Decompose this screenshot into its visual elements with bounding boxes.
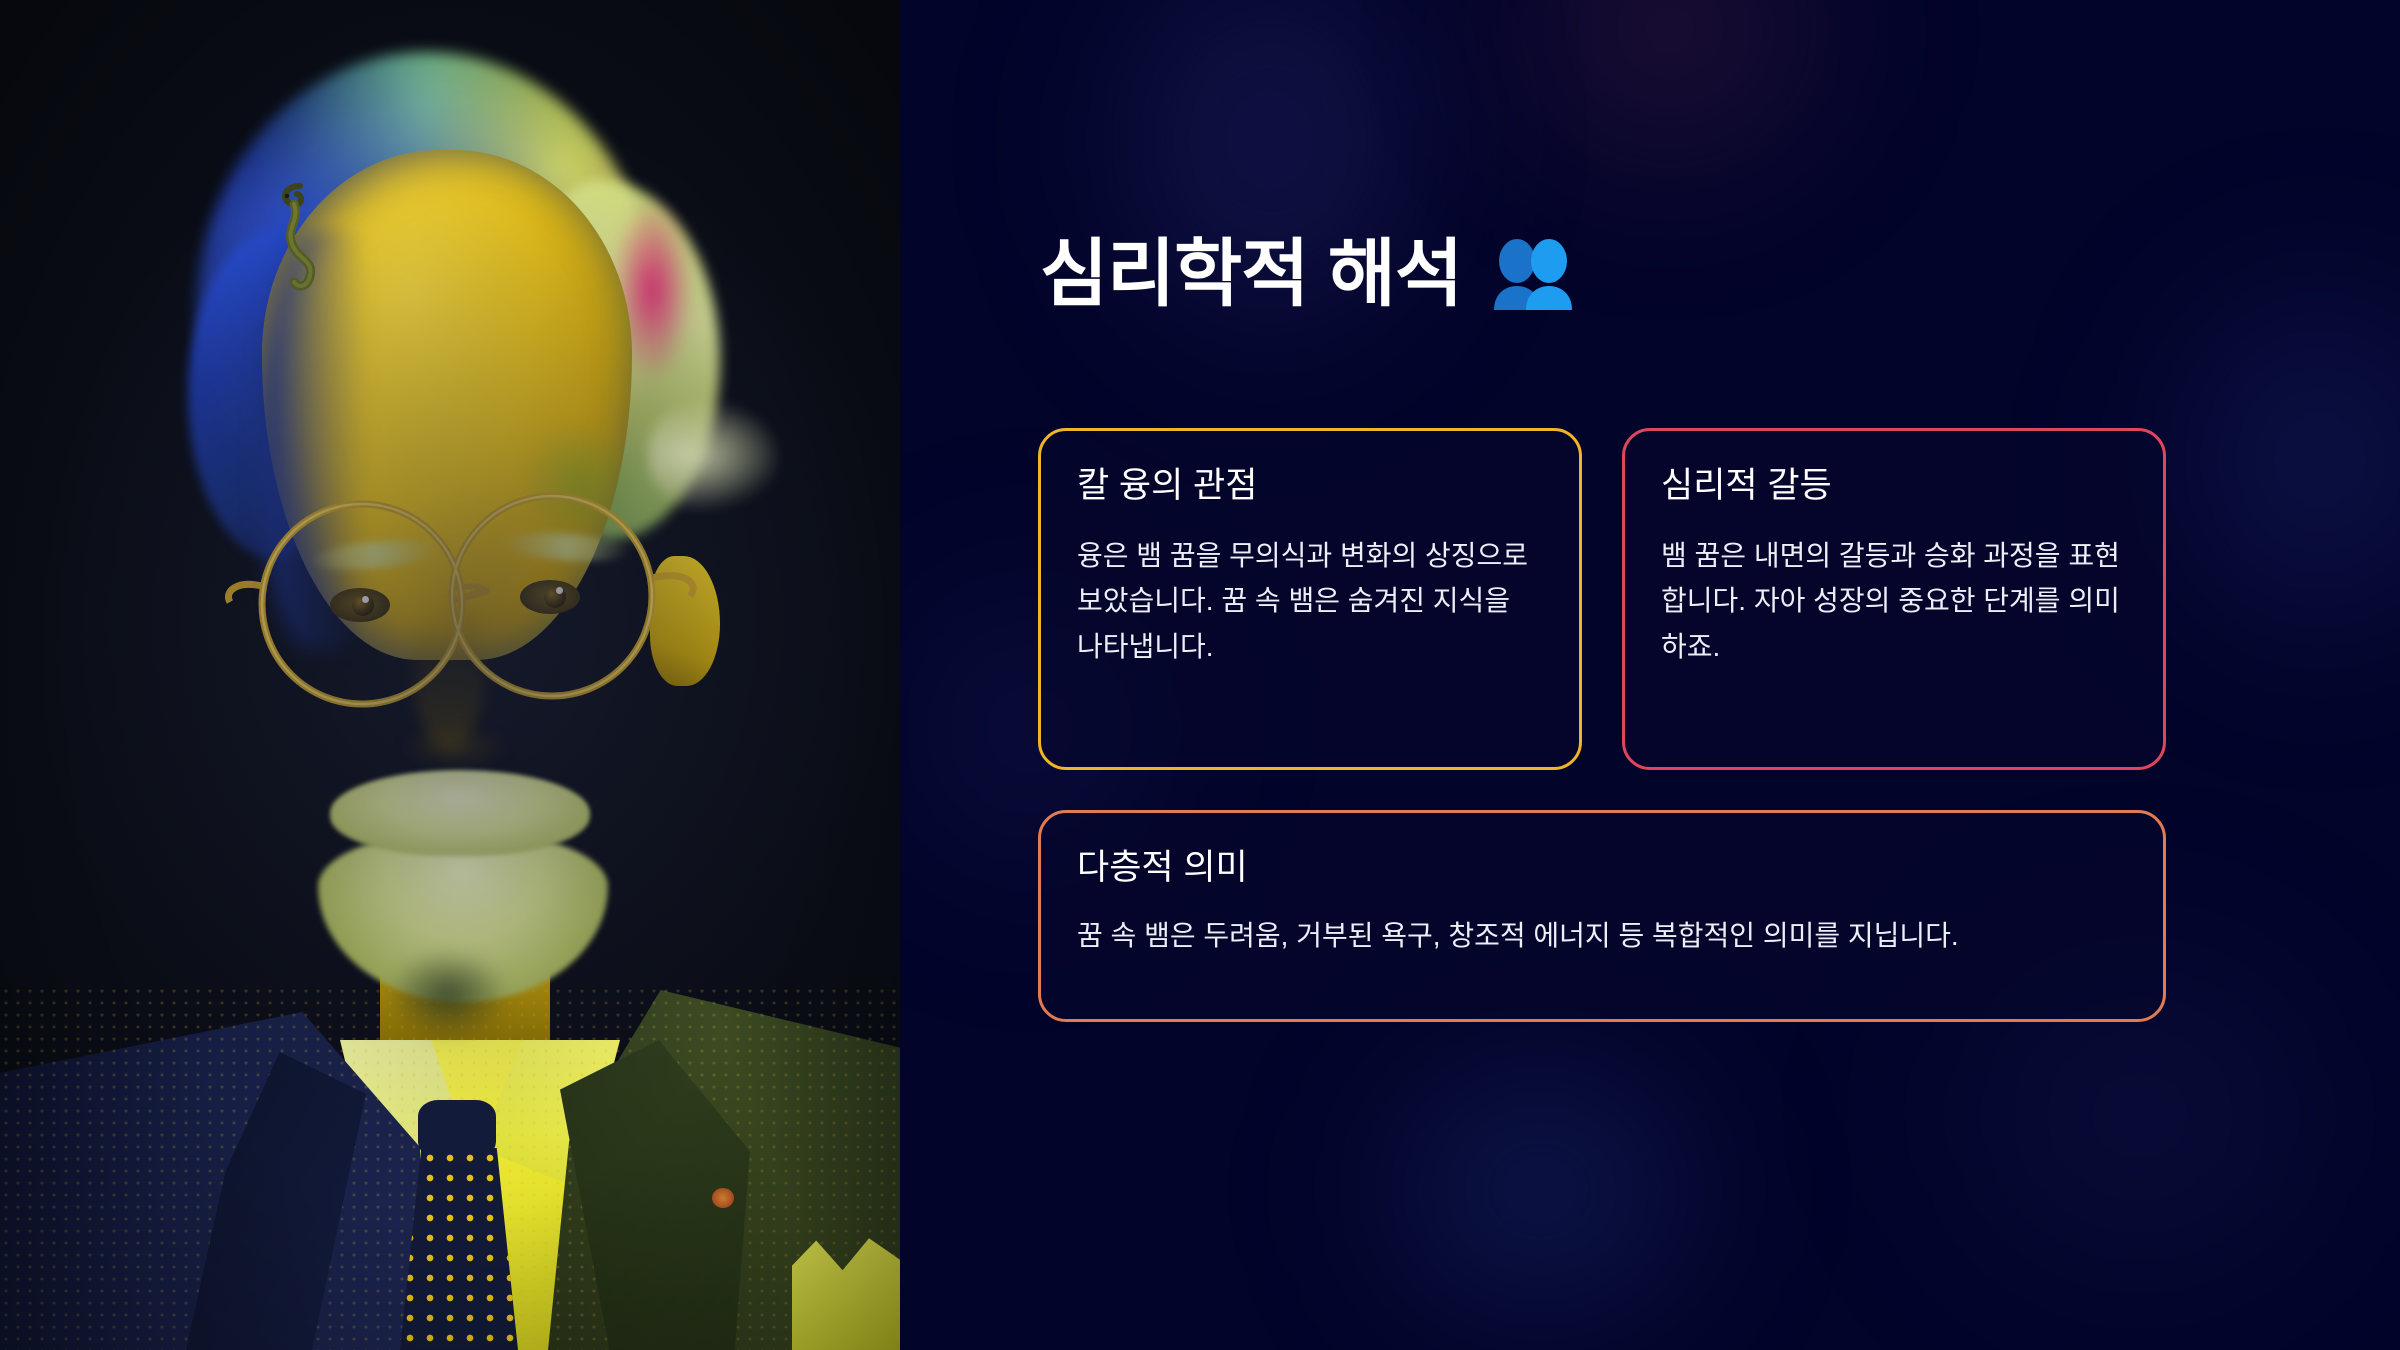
- card-psychological-conflict[interactable]: 심리적 갈등 뱀 꿈은 내면의 갈등과 승화 과정을 표현합니다. 자아 성장의…: [1622, 428, 2166, 770]
- card-body: 꿈 속 뱀은 두려움, 거부된 욕구, 창조적 에너지 등 복합적인 의미를 지…: [1077, 913, 2127, 958]
- glow-spot: [1330, 1010, 1750, 1350]
- cards-container: 칼 융의 관점 융은 뱀 꿈을 무의식과 변화의 상징으로 보았습니다. 꿈 속…: [1038, 428, 2166, 1022]
- two-people-icon: [1490, 236, 1578, 312]
- card-title: 다층적 의미: [1077, 847, 2127, 889]
- page-title-text: 심리학적 해석: [1040, 237, 1462, 311]
- content-panel: 심리학적 해석 칼 융의 관점 융은 뱀 꿈을 무의식과 변화의 상징으로 보았…: [900, 0, 2400, 1350]
- eye-glint-right: [556, 587, 563, 594]
- card-title: 심리적 갈등: [1661, 465, 2127, 507]
- glow-spot: [1060, 0, 1480, 400]
- glow-spot: [1460, 0, 1880, 220]
- glasses-icon: [0, 0, 900, 1350]
- slide: 심리학적 해석 칼 융의 관점 융은 뱀 꿈을 무의식과 변화의 상징으로 보았…: [0, 0, 2400, 1350]
- cards-top-row: 칼 융의 관점 융은 뱀 꿈을 무의식과 변화의 상징으로 보았습니다. 꿈 속…: [1038, 428, 2166, 770]
- page-title: 심리학적 해석: [1040, 236, 1578, 312]
- card-jung-perspective[interactable]: 칼 융의 관점 융은 뱀 꿈을 무의식과 변화의 상징으로 보았습니다. 꿈 속…: [1038, 428, 1582, 770]
- portrait-image: [0, 0, 900, 1350]
- lapel-pin: [712, 1188, 734, 1208]
- eye-glint-left: [362, 596, 369, 603]
- card-body: 융은 뱀 꿈을 무의식과 변화의 상징으로 보았습니다. 꿈 속 뱀은 숨겨진 …: [1077, 533, 1543, 669]
- card-title: 칼 융의 관점: [1077, 465, 1543, 507]
- card-layered-meaning[interactable]: 다층적 의미 꿈 속 뱀은 두려움, 거부된 욕구, 창조적 에너지 등 복합적…: [1038, 810, 2166, 1022]
- card-body: 뱀 꿈은 내면의 갈등과 승화 과정을 표현합니다. 자아 성장의 중요한 단계…: [1661, 533, 2127, 669]
